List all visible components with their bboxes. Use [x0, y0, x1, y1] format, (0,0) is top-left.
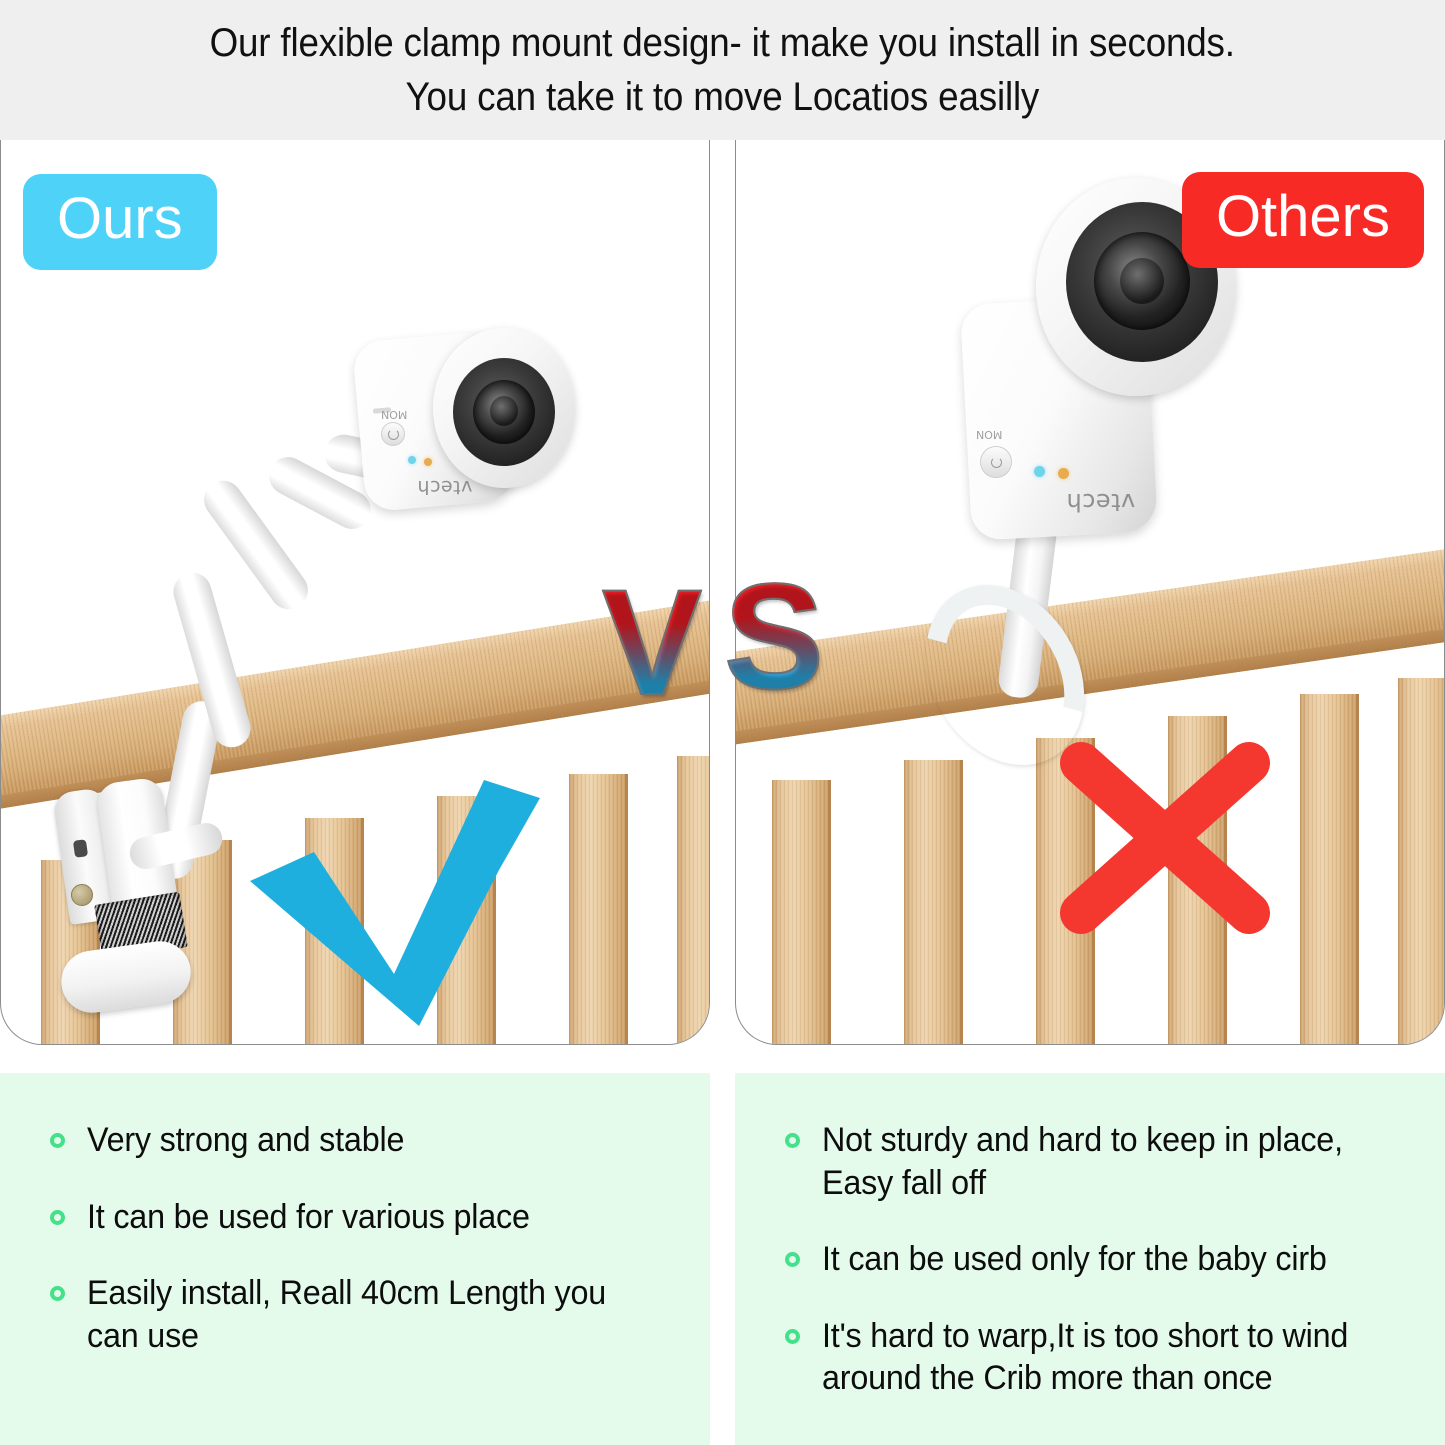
bullet-icon [50, 1210, 65, 1225]
bullet-icon [50, 1133, 65, 1148]
list-item-label: It can be used only for the baby cirb [822, 1238, 1327, 1281]
notes-ours: Very strong and stable It can be used fo… [0, 1073, 710, 1445]
rail-slat [1398, 678, 1445, 1045]
bullet-icon [785, 1252, 800, 1267]
camera-led-power [408, 456, 416, 464]
list-item: Very strong and stable [50, 1119, 680, 1162]
list-item: It can be used only for the baby cirb [785, 1238, 1415, 1281]
rail-slat [1300, 694, 1359, 1045]
camera-led-power [1034, 466, 1045, 477]
clamp-screw [71, 884, 93, 906]
camera-lens-core [490, 396, 518, 426]
clamp-pivot-pin [73, 839, 88, 858]
rail-slat [904, 760, 963, 1045]
camera-brand-label: vtech [417, 476, 472, 498]
camera-power-label: MON [976, 428, 1002, 441]
camera-brand-label: vtech [1066, 488, 1135, 516]
camera-power-button[interactable] [381, 422, 405, 446]
header-line-1: Our flexible clamp mount design- it make… [210, 16, 1235, 70]
list-item: Easily install, Reall 40cm Length you ca… [50, 1272, 680, 1357]
camera-power-label: MON [381, 408, 407, 421]
list-item: Not sturdy and hard to keep in place, Ea… [785, 1119, 1415, 1204]
list-item: It's hard to warp,It is too short to win… [785, 1315, 1415, 1400]
notes-others: Not sturdy and hard to keep in place, Ea… [735, 1073, 1445, 1445]
camera-lens-core [1120, 258, 1164, 304]
camera-led-status [1058, 468, 1069, 479]
list-item-label: Very strong and stable [87, 1119, 404, 1162]
header-banner: Our flexible clamp mount design- it make… [0, 0, 1445, 140]
list-item-label: It can be used for various place [87, 1196, 530, 1239]
badge-ours: Ours [23, 174, 217, 270]
cross-icon [1051, 741, 1283, 941]
camera-led-status [424, 458, 432, 466]
bullet-icon [785, 1329, 800, 1344]
comparison-panels: MON vtech Ours [0, 140, 1445, 1045]
feature-notes: Very strong and stable It can be used fo… [0, 1073, 1445, 1445]
check-icon [244, 758, 544, 1045]
rail-slat [677, 756, 710, 1045]
list-item: It can be used for various place [50, 1196, 680, 1239]
rail-slat [772, 780, 831, 1045]
bullet-icon [50, 1286, 65, 1301]
camera-power-button[interactable] [980, 446, 1012, 478]
panel-ours: MON vtech Ours [0, 140, 710, 1045]
list-item-label: Easily install, Reall 40cm Length you ca… [87, 1272, 650, 1357]
rail-slat [569, 774, 628, 1045]
header-line-2: You can take it to move Locatios easilly [406, 70, 1040, 124]
badge-others: Others [1182, 172, 1424, 268]
list-item-label: Not sturdy and hard to keep in place, Ea… [822, 1119, 1385, 1204]
list-item-label: It's hard to warp,It is too short to win… [822, 1315, 1385, 1400]
bullet-icon [785, 1133, 800, 1148]
